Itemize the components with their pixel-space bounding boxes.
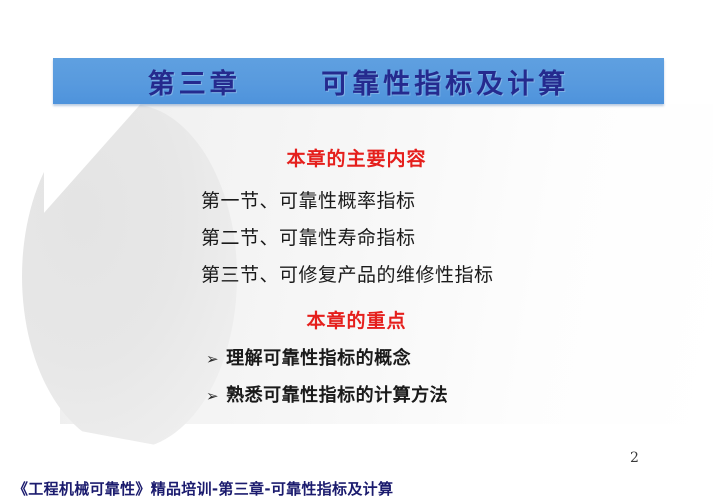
key-points-item-2: ➢ 熟悉可靠性指标的计算方法 — [206, 381, 448, 407]
slide-canvas: 第三章 可靠性指标及计算 本章的主要内容 第一节、可靠性概率指标 第二节、可靠性… — [0, 0, 713, 504]
contents-item-3: 第三节、可修复产品的维修性指标 — [201, 260, 494, 287]
key-points-item-1-label: 理解可靠性指标的概念 — [226, 344, 411, 370]
contents-item-1: 第一节、可靠性概率指标 — [201, 186, 416, 213]
page-number: 2 — [630, 450, 639, 466]
key-points-heading: 本章的重点 — [0, 306, 713, 333]
slide-title-banner: 第三章 可靠性指标及计算 — [53, 58, 664, 104]
key-points-item-1: ➢ 理解可靠性指标的概念 — [206, 344, 411, 370]
contents-heading: 本章的主要内容 — [0, 144, 713, 171]
arrow-bullet-icon: ➢ — [206, 350, 219, 368]
key-points-item-2-label: 熟悉可靠性指标的计算方法 — [226, 381, 448, 407]
arrow-bullet-icon: ➢ — [206, 387, 219, 405]
footer-note: 《工程机械可靠性》精品培训-第三章-可靠性指标及计算 — [13, 478, 393, 499]
slide-title: 第三章 可靠性指标及计算 — [148, 62, 569, 101]
contents-item-2: 第二节、可靠性寿命指标 — [201, 223, 416, 250]
